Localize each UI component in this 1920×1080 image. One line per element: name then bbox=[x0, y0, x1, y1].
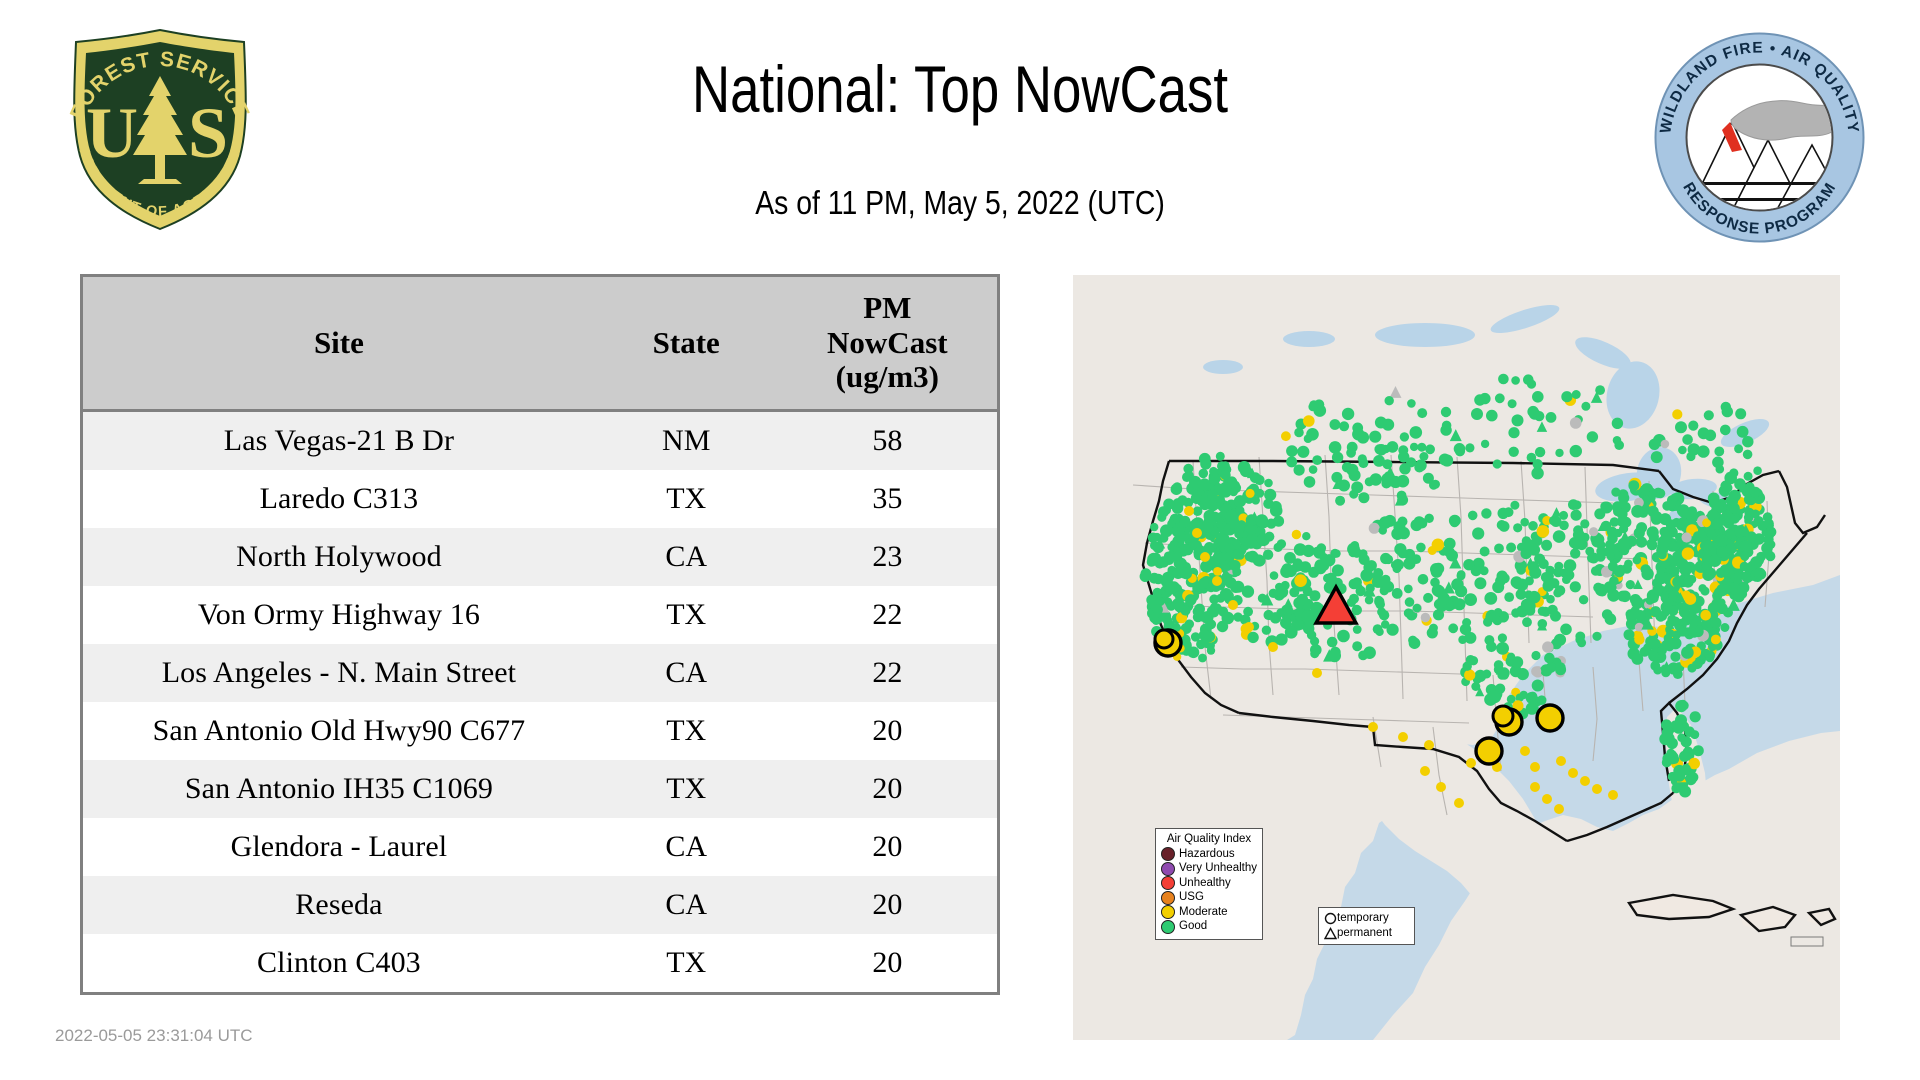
monitor-marker-temporary[interactable] bbox=[1150, 541, 1159, 550]
monitor-marker-temporary[interactable] bbox=[1216, 594, 1225, 603]
monitor-marker-temporary[interactable] bbox=[1669, 566, 1680, 577]
monitor-marker-temporary[interactable] bbox=[1264, 479, 1273, 488]
monitor-marker-temporary[interactable] bbox=[1575, 632, 1585, 642]
monitor-marker-temporary[interactable] bbox=[1496, 642, 1509, 655]
monitor-marker-temporary[interactable] bbox=[1471, 408, 1483, 420]
monitor-marker-temporary[interactable] bbox=[1425, 444, 1435, 454]
monitor-marker-temporary[interactable] bbox=[1571, 510, 1582, 521]
monitor-marker-temporary[interactable] bbox=[1665, 598, 1674, 607]
monitor-marker-temporary[interactable] bbox=[1198, 578, 1208, 588]
monitor-marker-temporary[interactable] bbox=[1335, 496, 1345, 506]
monitor-marker-temporary[interactable] bbox=[1382, 459, 1392, 469]
monitor-marker-temporary[interactable] bbox=[1212, 576, 1222, 586]
monitor-marker-temporary[interactable] bbox=[1555, 585, 1566, 596]
monitor-marker-temporary[interactable] bbox=[1280, 617, 1291, 628]
monitor-marker-temporary[interactable] bbox=[1193, 606, 1203, 616]
monitor-marker-temporary[interactable] bbox=[1369, 523, 1380, 534]
monitor-marker-temporary[interactable] bbox=[1368, 722, 1378, 732]
monitor-marker-temporary[interactable] bbox=[1553, 530, 1566, 543]
monitor-marker-temporary[interactable] bbox=[1504, 592, 1514, 602]
monitor-marker-temporary[interactable] bbox=[1531, 467, 1543, 479]
monitor-marker-temporary[interactable] bbox=[1656, 489, 1666, 499]
monitor-marker-temporary[interactable] bbox=[1200, 552, 1210, 562]
monitor-marker-temporary[interactable] bbox=[1523, 374, 1534, 385]
monitor-marker-temporary[interactable] bbox=[1399, 463, 1410, 474]
monitor-marker-temporary[interactable] bbox=[1264, 489, 1276, 501]
monitor-marker-temporary[interactable] bbox=[1530, 782, 1540, 792]
monitor-marker-temporary[interactable] bbox=[1488, 691, 1501, 704]
monitor-marker-temporary[interactable] bbox=[1303, 586, 1313, 596]
monitor-marker-temporary[interactable] bbox=[1327, 637, 1338, 648]
monitor-marker-temporary[interactable] bbox=[1600, 502, 1610, 512]
monitor-marker-temporary[interactable] bbox=[1234, 523, 1245, 534]
monitor-marker-temporary[interactable] bbox=[1199, 469, 1209, 479]
monitor-marker-temporary[interactable] bbox=[1720, 623, 1729, 632]
monitor-marker-temporary[interactable] bbox=[1546, 412, 1557, 423]
monitor-marker-temporary[interactable] bbox=[1740, 541, 1752, 553]
monitor-marker-temporary[interactable] bbox=[1199, 630, 1210, 641]
monitor-marker-temporary[interactable] bbox=[1204, 542, 1215, 553]
monitor-marker-temporary[interactable] bbox=[1666, 619, 1675, 628]
monitor-marker-temporary[interactable] bbox=[1568, 768, 1578, 778]
monitor-marker-temporary[interactable] bbox=[1349, 490, 1358, 499]
monitor-marker-temporary[interactable] bbox=[1672, 409, 1682, 419]
monitor-marker-temporary[interactable] bbox=[1506, 543, 1516, 553]
monitor-marker-temporary[interactable] bbox=[1559, 511, 1568, 520]
monitor-marker-temporary[interactable] bbox=[1529, 567, 1541, 579]
monitor-marker-temporary[interactable] bbox=[1619, 591, 1631, 603]
monitor-marker-temporary[interactable] bbox=[1405, 597, 1415, 607]
monitor-marker-temporary[interactable] bbox=[1202, 521, 1214, 533]
monitor-marker-temporary[interactable] bbox=[1465, 443, 1474, 452]
monitor-marker-temporary[interactable] bbox=[1494, 608, 1503, 617]
monitor-marker-temporary[interactable] bbox=[1508, 657, 1518, 667]
monitor-marker-temporary[interactable] bbox=[1661, 440, 1670, 449]
monitor-marker-temporary[interactable] bbox=[1667, 749, 1676, 758]
monitor-marker-temporary[interactable] bbox=[1591, 536, 1603, 548]
monitor-marker-temporary[interactable] bbox=[1206, 619, 1216, 629]
monitor-marker-temporary[interactable] bbox=[1531, 666, 1541, 676]
monitor-marker-temporary[interactable] bbox=[1500, 573, 1510, 583]
monitor-marker-temporary[interactable] bbox=[1317, 543, 1327, 553]
monitor-marker-temporary[interactable] bbox=[1312, 455, 1322, 465]
monitor-marker-temporary[interactable] bbox=[1179, 517, 1190, 528]
monitor-marker-temporary[interactable] bbox=[1384, 515, 1396, 527]
monitor-marker-temporary[interactable] bbox=[1303, 415, 1315, 427]
monitor-marker-temporary[interactable] bbox=[1705, 430, 1717, 442]
monitor-marker-temporary[interactable] bbox=[1679, 751, 1690, 762]
monitor-marker-temporary[interactable] bbox=[1740, 552, 1749, 561]
monitor-marker-temporary[interactable] bbox=[1614, 440, 1624, 450]
monitor-marker-temporary[interactable] bbox=[1607, 527, 1618, 538]
monitor-marker-temporary[interactable] bbox=[1215, 495, 1224, 504]
monitor-marker-temporary[interactable] bbox=[1682, 434, 1693, 445]
monitor-marker-temporary[interactable] bbox=[1617, 509, 1628, 520]
monitor-marker-temporary[interactable] bbox=[1735, 408, 1746, 419]
monitor-marker-temporary[interactable] bbox=[1286, 445, 1298, 457]
monitor-marker-temporary[interactable] bbox=[1387, 441, 1399, 453]
monitor-marker-temporary[interactable] bbox=[1152, 604, 1163, 615]
monitor-marker-temporary[interactable] bbox=[1423, 593, 1433, 603]
monitor-marker-temporary[interactable] bbox=[1556, 756, 1566, 766]
monitor-marker-temporary[interactable] bbox=[1220, 470, 1230, 480]
monitor-marker-temporary[interactable] bbox=[1493, 459, 1502, 468]
monitor-marker-temporary[interactable] bbox=[1539, 559, 1549, 569]
monitor-marker-temporary[interactable] bbox=[1150, 523, 1158, 531]
monitor-marker-temporary[interactable] bbox=[1377, 607, 1386, 616]
monitor-marker-temporary[interactable] bbox=[1446, 550, 1458, 562]
monitor-marker-temporary[interactable] bbox=[1410, 426, 1423, 439]
monitor-marker-temporary[interactable] bbox=[1543, 580, 1555, 592]
monitor-marker-temporary[interactable] bbox=[1581, 402, 1590, 411]
monitor-marker-temporary[interactable] bbox=[1714, 447, 1724, 457]
monitor-marker-temporary[interactable] bbox=[1528, 521, 1538, 531]
monitor-marker-temporary[interactable] bbox=[1532, 680, 1544, 692]
monitor-marker-temporary[interactable] bbox=[1729, 468, 1738, 477]
monitor-marker-temporary[interactable] bbox=[1512, 578, 1523, 589]
monitor-marker-temporary[interactable] bbox=[1534, 411, 1544, 421]
monitor-marker-temporary[interactable] bbox=[1592, 632, 1601, 641]
monitor-marker-temporary[interactable] bbox=[1595, 385, 1605, 395]
monitor-marker-temporary[interactable] bbox=[1173, 482, 1182, 491]
monitor-marker-temporary[interactable] bbox=[1158, 556, 1169, 567]
monitor-marker-temporary[interactable] bbox=[1710, 617, 1721, 628]
monitor-marker-temporary[interactable] bbox=[1234, 495, 1246, 507]
monitor-marker-temporary[interactable] bbox=[1188, 647, 1200, 659]
monitor-marker-temporary[interactable] bbox=[1605, 613, 1617, 625]
monitor-marker-temporary[interactable] bbox=[1508, 399, 1517, 408]
monitor-marker-temporary[interactable] bbox=[1537, 695, 1547, 705]
monitor-marker-temporary[interactable] bbox=[1641, 564, 1651, 574]
monitor-marker-temporary[interactable] bbox=[1174, 602, 1184, 612]
monitor-marker-temporary[interactable] bbox=[1349, 579, 1360, 590]
monitor-marker-temporary[interactable] bbox=[1449, 515, 1461, 527]
monitor-marker-temporary[interactable] bbox=[1757, 521, 1767, 531]
monitor-marker-temporary[interactable] bbox=[1441, 407, 1451, 417]
monitor-marker-temporary[interactable] bbox=[1555, 449, 1563, 457]
monitor-marker-temporary[interactable] bbox=[1537, 525, 1550, 538]
monitor-marker-temporary[interactable] bbox=[1708, 541, 1718, 551]
monitor-marker-temporary[interactable] bbox=[1742, 436, 1753, 447]
monitor-marker-temporary[interactable] bbox=[1554, 634, 1566, 646]
aqi-monitor-map[interactable]: Air Quality Index HazardousVery Unhealth… bbox=[1073, 275, 1840, 1040]
monitor-marker-temporary[interactable] bbox=[1570, 417, 1582, 429]
monitor-marker-temporary[interactable] bbox=[1376, 444, 1387, 455]
monitor-marker-temporary[interactable] bbox=[1213, 567, 1222, 576]
monitor-marker-temporary[interactable] bbox=[1163, 616, 1173, 626]
monitor-marker-temporary[interactable] bbox=[1665, 733, 1675, 743]
monitor-marker-temporary[interactable] bbox=[1464, 593, 1477, 606]
monitor-marker-temporary[interactable] bbox=[1626, 580, 1635, 589]
monitor-marker-temporary[interactable] bbox=[1184, 506, 1194, 516]
monitor-marker-temporary[interactable] bbox=[1635, 610, 1646, 621]
monitor-marker-temporary[interactable] bbox=[1679, 563, 1692, 576]
monitor-marker-temporary[interactable] bbox=[1442, 421, 1452, 431]
monitor-marker-temporary[interactable] bbox=[1542, 641, 1553, 652]
monitor-marker-temporary[interactable] bbox=[1510, 501, 1519, 510]
monitor-marker-temporary[interactable] bbox=[1246, 489, 1255, 498]
monitor-marker-temporary[interactable] bbox=[1527, 453, 1537, 463]
monitor-marker-temporary[interactable] bbox=[1484, 592, 1497, 605]
monitor-marker-temporary[interactable] bbox=[1658, 550, 1667, 559]
monitor-marker-temporary[interactable] bbox=[1270, 571, 1279, 580]
monitor-marker-temporary[interactable] bbox=[1750, 487, 1761, 498]
monitor-marker-temporary[interactable] bbox=[1297, 446, 1309, 458]
monitor-marker-temporary[interactable] bbox=[1198, 654, 1207, 663]
monitor-marker-temporary[interactable] bbox=[1580, 776, 1590, 786]
monitor-marker-temporary[interactable] bbox=[1398, 549, 1408, 559]
monitor-marker-temporary[interactable] bbox=[1353, 625, 1362, 634]
monitor-marker-temporary[interactable] bbox=[1720, 565, 1731, 576]
monitor-marker-temporary[interactable] bbox=[1678, 446, 1687, 455]
top-site-marker-san-antonio-ih35[interactable] bbox=[1493, 706, 1513, 726]
monitor-marker-temporary[interactable] bbox=[1673, 723, 1684, 734]
monitor-marker-temporary[interactable] bbox=[1549, 516, 1559, 526]
monitor-marker-temporary[interactable] bbox=[1474, 577, 1486, 589]
monitor-marker-temporary[interactable] bbox=[1294, 465, 1305, 476]
monitor-marker-temporary[interactable] bbox=[1441, 454, 1453, 466]
monitor-marker-temporary[interactable] bbox=[1262, 626, 1271, 635]
monitor-marker-temporary[interactable] bbox=[1466, 758, 1476, 768]
monitor-marker-temporary[interactable] bbox=[1454, 798, 1464, 808]
monitor-marker-temporary[interactable] bbox=[1375, 417, 1387, 429]
monitor-marker-temporary[interactable] bbox=[1147, 556, 1157, 566]
monitor-marker-temporary[interactable] bbox=[1596, 546, 1606, 556]
monitor-marker-temporary[interactable] bbox=[1286, 456, 1297, 467]
monitor-marker-temporary[interactable] bbox=[1655, 572, 1668, 585]
monitor-marker-temporary[interactable] bbox=[1192, 528, 1202, 538]
monitor-marker-temporary[interactable] bbox=[1180, 544, 1191, 555]
monitor-marker-temporary[interactable] bbox=[1444, 538, 1456, 550]
monitor-marker-temporary[interactable] bbox=[1185, 594, 1197, 606]
monitor-marker-temporary[interactable] bbox=[1310, 637, 1319, 646]
monitor-marker-temporary[interactable] bbox=[1618, 492, 1629, 503]
monitor-marker-temporary[interactable] bbox=[1407, 399, 1416, 408]
monitor-marker-temporary[interactable] bbox=[1289, 587, 1299, 597]
monitor-marker-temporary[interactable] bbox=[1587, 431, 1598, 442]
monitor-marker-temporary[interactable] bbox=[1513, 523, 1522, 532]
monitor-marker-temporary[interactable] bbox=[1417, 443, 1426, 452]
monitor-marker-temporary[interactable] bbox=[1403, 558, 1415, 570]
monitor-marker-temporary[interactable] bbox=[1612, 418, 1623, 429]
monitor-marker-temporary[interactable] bbox=[1209, 467, 1218, 476]
monitor-marker-temporary[interactable] bbox=[1413, 604, 1422, 613]
monitor-marker-temporary[interactable] bbox=[1398, 451, 1409, 462]
monitor-marker-temporary[interactable] bbox=[1634, 634, 1644, 644]
monitor-marker-temporary[interactable] bbox=[1572, 390, 1581, 399]
monitor-marker-temporary[interactable] bbox=[1292, 530, 1301, 539]
monitor-marker-temporary[interactable] bbox=[1653, 666, 1662, 675]
monitor-marker-temporary[interactable] bbox=[1695, 625, 1703, 633]
monitor-marker-temporary[interactable] bbox=[1716, 603, 1727, 614]
monitor-marker-temporary[interactable] bbox=[1398, 732, 1408, 742]
monitor-marker-temporary[interactable] bbox=[1373, 624, 1383, 634]
monitor-marker-temporary[interactable] bbox=[1346, 464, 1358, 476]
top-site-marker-glendora[interactable] bbox=[1155, 630, 1173, 648]
monitor-marker-temporary[interactable] bbox=[1494, 660, 1504, 670]
monitor-marker-temporary[interactable] bbox=[1432, 539, 1445, 552]
monitor-marker-temporary[interactable] bbox=[1670, 652, 1680, 662]
monitor-marker-temporary[interactable] bbox=[1480, 547, 1490, 557]
monitor-marker-temporary[interactable] bbox=[1628, 480, 1639, 491]
monitor-marker-temporary[interactable] bbox=[1365, 596, 1374, 605]
monitor-marker-temporary[interactable] bbox=[1199, 453, 1211, 465]
monitor-marker-temporary[interactable] bbox=[1570, 581, 1581, 592]
monitor-marker-temporary[interactable] bbox=[1722, 510, 1732, 520]
monitor-marker-temporary[interactable] bbox=[1530, 762, 1540, 772]
monitor-marker-temporary[interactable] bbox=[1247, 632, 1258, 643]
monitor-marker-temporary[interactable] bbox=[1512, 414, 1524, 426]
monitor-marker-temporary[interactable] bbox=[1448, 623, 1458, 633]
monitor-marker-temporary[interactable] bbox=[1329, 441, 1342, 454]
monitor-marker-temporary[interactable] bbox=[1346, 448, 1356, 458]
monitor-marker-temporary[interactable] bbox=[1633, 556, 1642, 565]
monitor-marker-temporary[interactable] bbox=[1529, 692, 1538, 701]
monitor-marker-temporary[interactable] bbox=[1688, 772, 1698, 782]
monitor-marker-temporary[interactable] bbox=[1417, 408, 1427, 418]
monitor-marker-temporary[interactable] bbox=[1152, 617, 1160, 625]
monitor-marker-temporary[interactable] bbox=[1686, 452, 1695, 461]
monitor-marker-temporary[interactable] bbox=[1167, 520, 1175, 528]
monitor-marker-temporary[interactable] bbox=[1650, 606, 1661, 617]
monitor-marker-temporary[interactable] bbox=[1657, 536, 1670, 549]
monitor-marker-temporary[interactable] bbox=[1294, 428, 1304, 438]
monitor-marker-temporary[interactable] bbox=[1451, 578, 1463, 590]
monitor-marker-temporary[interactable] bbox=[1224, 551, 1235, 562]
monitor-marker-temporary[interactable] bbox=[1717, 547, 1728, 558]
monitor-marker-temporary[interactable] bbox=[1379, 526, 1387, 534]
monitor-marker-temporary[interactable] bbox=[1614, 566, 1625, 577]
monitor-marker-temporary[interactable] bbox=[1498, 633, 1507, 642]
monitor-marker-temporary[interactable] bbox=[1754, 568, 1766, 580]
monitor-marker-temporary[interactable] bbox=[1649, 593, 1659, 603]
monitor-marker-temporary[interactable] bbox=[1697, 445, 1709, 457]
monitor-marker-temporary[interactable] bbox=[1263, 550, 1273, 560]
monitor-marker-temporary[interactable] bbox=[1675, 421, 1687, 433]
monitor-marker-temporary[interactable] bbox=[1349, 594, 1359, 604]
monitor-marker-temporary[interactable] bbox=[1704, 410, 1714, 420]
monitor-marker-temporary[interactable] bbox=[1275, 583, 1284, 592]
monitor-marker-temporary[interactable] bbox=[1140, 571, 1151, 582]
monitor-marker-temporary[interactable] bbox=[1698, 584, 1706, 592]
monitor-marker-temporary[interactable] bbox=[1185, 471, 1194, 480]
monitor-marker-temporary[interactable] bbox=[1273, 516, 1284, 527]
monitor-marker-temporary[interactable] bbox=[1724, 484, 1733, 493]
monitor-marker-temporary[interactable] bbox=[1722, 406, 1733, 417]
monitor-marker-temporary[interactable] bbox=[1675, 700, 1687, 712]
monitor-marker-temporary[interactable] bbox=[1458, 635, 1467, 644]
monitor-marker-temporary[interactable] bbox=[1417, 518, 1428, 529]
monitor-marker-temporary[interactable] bbox=[1301, 611, 1314, 624]
monitor-marker-temporary[interactable] bbox=[1608, 583, 1617, 592]
monitor-marker-temporary[interactable] bbox=[1521, 548, 1532, 559]
monitor-marker-temporary[interactable] bbox=[1294, 543, 1307, 556]
monitor-marker-temporary[interactable] bbox=[1306, 428, 1319, 441]
monitor-marker-temporary[interactable] bbox=[1608, 790, 1618, 800]
monitor-marker-temporary[interactable] bbox=[1454, 443, 1466, 455]
monitor-marker-temporary[interactable] bbox=[1516, 589, 1527, 600]
monitor-marker-temporary[interactable] bbox=[1332, 564, 1344, 576]
monitor-marker-temporary[interactable] bbox=[1497, 670, 1506, 679]
monitor-marker-temporary[interactable] bbox=[1416, 543, 1426, 553]
monitor-marker-temporary[interactable] bbox=[1688, 421, 1698, 431]
monitor-marker-temporary[interactable] bbox=[1200, 495, 1208, 503]
monitor-marker-temporary[interactable] bbox=[1641, 485, 1650, 494]
monitor-marker-temporary[interactable] bbox=[1688, 664, 1697, 673]
monitor-marker-temporary[interactable] bbox=[1264, 532, 1274, 542]
monitor-marker-temporary[interactable] bbox=[1172, 503, 1183, 514]
monitor-marker-temporary[interactable] bbox=[1304, 476, 1316, 488]
monitor-marker-temporary[interactable] bbox=[1562, 575, 1571, 584]
monitor-marker-temporary[interactable] bbox=[1693, 745, 1704, 756]
monitor-marker-temporary[interactable] bbox=[1494, 544, 1504, 554]
top-site-marker-laredo-c313[interactable] bbox=[1476, 738, 1502, 764]
monitor-marker-temporary[interactable] bbox=[1228, 600, 1238, 610]
monitor-marker-temporary[interactable] bbox=[1309, 465, 1318, 474]
monitor-marker-temporary[interactable] bbox=[1580, 519, 1589, 528]
monitor-marker-temporary[interactable] bbox=[1669, 638, 1679, 648]
monitor-marker-temporary[interactable] bbox=[1408, 636, 1417, 645]
monitor-marker-temporary[interactable] bbox=[1427, 627, 1438, 638]
monitor-marker-temporary[interactable] bbox=[1293, 558, 1303, 568]
monitor-marker-temporary[interactable] bbox=[1508, 427, 1519, 438]
monitor-marker-temporary[interactable] bbox=[1420, 766, 1430, 776]
monitor-marker-temporary[interactable] bbox=[1486, 410, 1498, 422]
monitor-marker-temporary[interactable] bbox=[1387, 624, 1399, 636]
monitor-marker-temporary[interactable] bbox=[1764, 549, 1773, 558]
monitor-marker-temporary[interactable] bbox=[1753, 466, 1762, 475]
monitor-marker-temporary[interactable] bbox=[1216, 452, 1225, 461]
monitor-marker-temporary[interactable] bbox=[1560, 624, 1572, 636]
monitor-marker-temporary[interactable] bbox=[1281, 431, 1291, 441]
monitor-marker-temporary[interactable] bbox=[1734, 444, 1743, 453]
monitor-marker-temporary[interactable] bbox=[1673, 770, 1685, 782]
monitor-marker-temporary[interactable] bbox=[1541, 540, 1552, 551]
monitor-marker-temporary[interactable] bbox=[1332, 549, 1340, 557]
monitor-marker-temporary[interactable] bbox=[1474, 394, 1485, 405]
monitor-marker-temporary[interactable] bbox=[1181, 568, 1192, 579]
monitor-marker-temporary[interactable] bbox=[1651, 451, 1663, 463]
monitor-marker-temporary[interactable] bbox=[1690, 711, 1701, 722]
monitor-marker-temporary[interactable] bbox=[1398, 527, 1410, 539]
monitor-marker-temporary[interactable] bbox=[1740, 562, 1749, 571]
monitor-marker-temporary[interactable] bbox=[1153, 574, 1164, 585]
monitor-marker-temporary[interactable] bbox=[1631, 505, 1644, 518]
monitor-marker-temporary[interactable] bbox=[1711, 635, 1721, 645]
monitor-marker-temporary[interactable] bbox=[1666, 629, 1674, 637]
monitor-marker-temporary[interactable] bbox=[1163, 582, 1172, 591]
monitor-marker-temporary[interactable] bbox=[1358, 454, 1367, 463]
monitor-marker-temporary[interactable] bbox=[1255, 514, 1268, 527]
monitor-marker-temporary[interactable] bbox=[1607, 552, 1616, 561]
monitor-marker-temporary[interactable] bbox=[1540, 664, 1552, 676]
monitor-marker-temporary[interactable] bbox=[1624, 629, 1635, 640]
monitor-marker-temporary[interactable] bbox=[1737, 426, 1749, 438]
monitor-marker-temporary[interactable] bbox=[1744, 513, 1753, 522]
monitor-marker-temporary[interactable] bbox=[1522, 617, 1532, 627]
monitor-marker-temporary[interactable] bbox=[1468, 511, 1478, 521]
monitor-marker-temporary[interactable] bbox=[1649, 439, 1660, 450]
monitor-marker-temporary[interactable] bbox=[1310, 649, 1319, 658]
monitor-marker-temporary[interactable] bbox=[1684, 593, 1696, 605]
monitor-marker-temporary[interactable] bbox=[1561, 391, 1572, 402]
monitor-marker-temporary[interactable] bbox=[1240, 465, 1252, 477]
monitor-marker-temporary[interactable] bbox=[1542, 794, 1552, 804]
monitor-marker-temporary[interactable] bbox=[1419, 452, 1428, 461]
monitor-marker-temporary[interactable] bbox=[1681, 646, 1694, 659]
monitor-marker-temporary[interactable] bbox=[1712, 457, 1724, 469]
monitor-marker-temporary[interactable] bbox=[1302, 532, 1310, 540]
